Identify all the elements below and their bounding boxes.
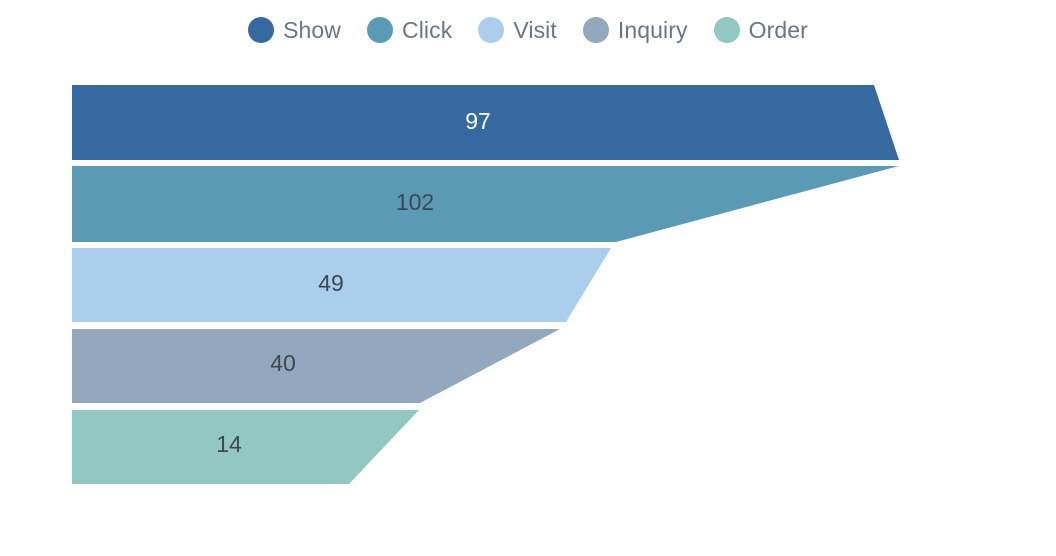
- funnel-band-inquiry[interactable]: [72, 329, 560, 403]
- funnel-band-click[interactable]: [72, 166, 899, 242]
- legend-item-visit[interactable]: Visit: [478, 17, 557, 43]
- chart-legend: ShowClickVisitInquiryOrder: [0, 10, 1056, 50]
- funnel-plot-area: 97102494014: [0, 0, 1056, 556]
- legend-item-order[interactable]: Order: [714, 17, 808, 43]
- legend-dot-icon: [583, 17, 609, 43]
- legend-item-inquiry[interactable]: Inquiry: [583, 17, 688, 43]
- legend-item-show[interactable]: Show: [248, 17, 341, 43]
- legend-dot-icon: [367, 17, 393, 43]
- legend-item-label: Inquiry: [618, 17, 688, 43]
- funnel-chart-root: ShowClickVisitInquiryOrder 97102494014: [0, 0, 1056, 556]
- funnel-band-show[interactable]: [72, 85, 899, 160]
- legend-dot-icon: [714, 17, 740, 43]
- legend-item-click[interactable]: Click: [367, 17, 452, 43]
- legend-item-label: Click: [402, 17, 452, 43]
- legend-item-label: Show: [283, 17, 341, 43]
- funnel-band-order[interactable]: [72, 410, 419, 484]
- funnel-bands-group: [72, 85, 899, 484]
- legend-item-label: Order: [749, 17, 808, 43]
- legend-item-label: Visit: [513, 17, 557, 43]
- funnel-svg: 97102494014: [0, 0, 1056, 556]
- legend-dot-icon: [248, 17, 274, 43]
- legend-dot-icon: [478, 17, 504, 43]
- funnel-band-visit[interactable]: [72, 248, 611, 322]
